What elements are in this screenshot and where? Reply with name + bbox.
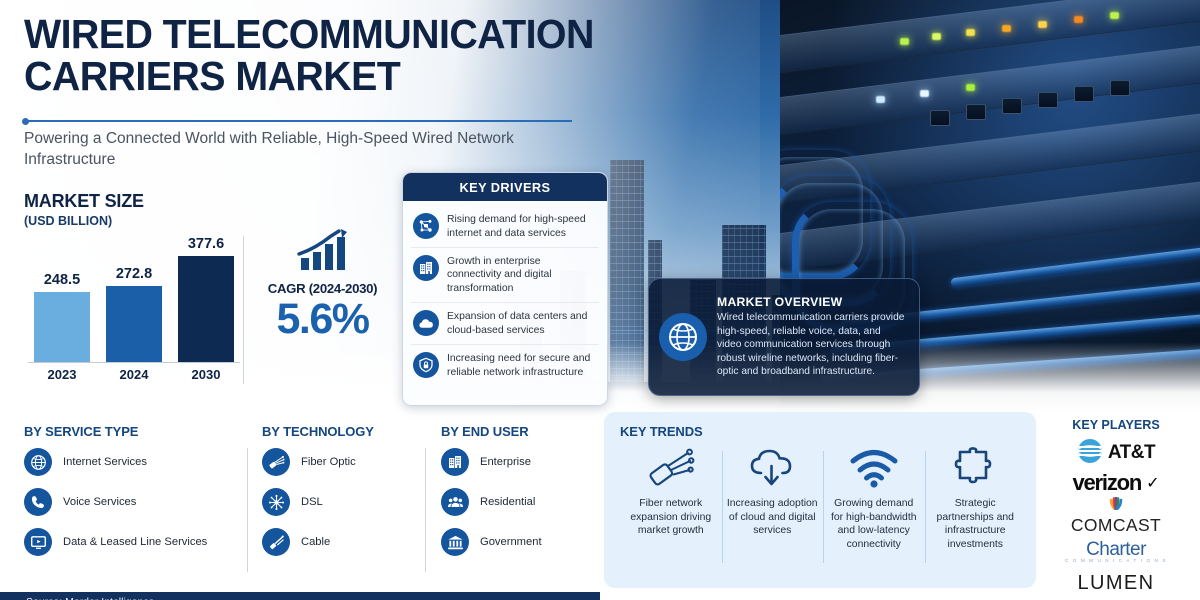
segment-divider-2 <box>425 448 426 572</box>
segment-heading: BY END USER <box>441 424 601 439</box>
key-player-name: verizon <box>1072 470 1141 496</box>
key-driver-item: Increasing need for secure and reliable … <box>411 345 599 386</box>
segment-item: Enterprise <box>441 448 601 476</box>
bar-value-label: 377.6 <box>188 236 224 252</box>
cagr-label: CAGR (2024-2030) <box>250 281 395 296</box>
market-size-heading: MARKET SIZE <box>24 191 144 212</box>
verizon-check-logo: ✓ <box>1146 473 1159 493</box>
wifi-icon <box>827 445 921 491</box>
market-overview-text: Wired telecommunication carriers provide… <box>717 311 907 379</box>
bar <box>34 292 90 362</box>
key-player-name: AT&T <box>1108 442 1155 464</box>
footer-bar: Source: Mordor Intelligence <box>0 592 600 600</box>
key-player-name: COMCAST <box>1071 515 1161 536</box>
chart-cagr-divider <box>243 236 244 384</box>
segment-heading: BY SERVICE TYPE <box>24 424 234 439</box>
key-player-verizon: verizon ✓ <box>1040 468 1192 498</box>
key-trends-heading: KEY TRENDS <box>620 424 1026 439</box>
cloud-icon <box>413 310 439 336</box>
segment-divider-1 <box>247 448 248 572</box>
page-title: WIRED TELECOMMUNICATION CARRIERS MARKET <box>24 14 600 98</box>
people-group-icon <box>441 488 469 516</box>
segment-item-label: Internet Services <box>63 456 147 468</box>
key-player-subtitle: C O M M U N I C A T I O N S <box>1065 558 1167 563</box>
bar-category-label: 2024 <box>120 367 149 382</box>
key-trend-text: Strategic partnerships and infrastructur… <box>929 497 1023 552</box>
key-driver-text: Expansion of data centers and cloud-base… <box>447 309 597 338</box>
network-nodes-icon <box>413 213 439 239</box>
segment-item-label: Fiber Optic <box>301 456 356 468</box>
segment-item-label: Enterprise <box>480 456 531 468</box>
key-driver-text: Increasing need for secure and reliable … <box>447 351 597 380</box>
key-trends-list: Fiber network expansion driving market g… <box>620 445 1026 577</box>
segment-item: Cable <box>262 528 422 556</box>
key-driver-text: Rising demand for high-speed internet an… <box>447 212 597 241</box>
bar-category-label: 2030 <box>192 367 221 382</box>
segment-item: Fiber Optic <box>262 448 422 476</box>
segment-item: Internet Services <box>24 448 234 476</box>
globe-icon <box>659 313 707 361</box>
chart-bars: 248.5272.8377.6 <box>28 232 240 362</box>
key-trend-text: Growing demand for high-bandwidth and lo… <box>827 497 921 552</box>
segment-item-label: DSL <box>301 496 323 508</box>
cloud-download-icon <box>726 445 820 491</box>
bar-value-label: 248.5 <box>44 272 80 288</box>
government-bank-icon <box>441 528 469 556</box>
key-player-comcast: COMCAST <box>1040 498 1192 534</box>
bar <box>178 256 234 362</box>
segment-item-label: Residential <box>480 496 535 508</box>
key-players-panel: KEY PLAYERS AT&T verizon ✓ <box>1040 418 1192 598</box>
monitor-play-icon <box>24 528 52 556</box>
office-building-icon <box>441 448 469 476</box>
phone-icon <box>24 488 52 516</box>
title-divider <box>24 120 572 122</box>
key-player-name: LUMEN <box>1077 572 1154 595</box>
key-trend-item: Growing demand for high-bandwidth and lo… <box>823 445 925 552</box>
key-driver-item: Rising demand for high-speed internet an… <box>411 206 599 248</box>
fiber-cable-icon <box>624 445 718 491</box>
att-globe-logo <box>1077 438 1103 469</box>
segment-item-label: Cable <box>301 536 330 548</box>
source-text: Source: Mordor Intelligence <box>26 596 154 600</box>
segment-item-label: Data & Leased Line Services <box>63 536 207 548</box>
dsl-node-icon <box>262 488 290 516</box>
shield-lock-icon <box>413 352 439 378</box>
market-overview-heading: MARKET OVERVIEW <box>717 295 907 309</box>
growth-bar-chart-arrow-icon <box>295 259 351 276</box>
puzzle-piece-icon <box>929 445 1023 491</box>
key-trend-text: Fiber network expansion driving market g… <box>624 497 718 538</box>
bar-category-label: 2023 <box>48 367 77 382</box>
key-trends-panel: KEY TRENDS Fiber network expansion drivi… <box>604 412 1036 588</box>
key-driver-item: Growth in enterprise connectivity and di… <box>411 248 599 303</box>
key-trend-text: Increasing adoption of cloud and digital… <box>726 497 820 538</box>
market-size-unit: (USD BILLION) <box>24 214 112 228</box>
key-player-charter: Charter C O M M U N I C A T I O N S <box>1040 534 1192 568</box>
segment-item: Residential <box>441 488 601 516</box>
segment-by-technology: BY TECHNOLOGYFiber OpticDSLCable <box>262 424 422 568</box>
segment-item: Government <box>441 528 601 556</box>
page-subtitle: Powering a Connected World with Reliable… <box>24 128 544 171</box>
segment-item-label: Government <box>480 536 542 548</box>
key-player-lumen: LUMEN <box>1040 568 1192 598</box>
key-drivers-heading: KEY DRIVERS <box>403 173 607 201</box>
office-building-icon <box>413 255 439 281</box>
comcast-peacock-logo <box>1103 497 1129 515</box>
key-drivers-list: Rising demand for high-speed internet an… <box>403 201 607 389</box>
key-trend-item: Increasing adoption of cloud and digital… <box>722 445 824 538</box>
bar-column: 377.6 <box>178 256 234 362</box>
key-driver-text: Growth in enterprise connectivity and di… <box>447 254 597 296</box>
globe-icon <box>24 448 52 476</box>
segment-heading: BY TECHNOLOGY <box>262 424 422 439</box>
segment-item: DSL <box>262 488 422 516</box>
market-size-bar-chart: 248.5272.8377.6 202320242030 <box>28 232 240 384</box>
key-drivers-card: KEY DRIVERS Rising demand for high-speed… <box>402 172 608 406</box>
key-trend-item: Strategic partnerships and infrastructur… <box>925 445 1027 552</box>
segment-item-label: Voice Services <box>63 496 136 508</box>
bar-column: 272.8 <box>106 286 162 362</box>
key-trend-item: Fiber network expansion driving market g… <box>620 445 722 538</box>
segment-by-end-user: BY END USEREnterpriseResidentialGovernme… <box>441 424 601 568</box>
cagr-block: CAGR (2024-2030) 5.6% <box>250 228 395 342</box>
fiber-optic-cable-icon <box>262 448 290 476</box>
infographic-root: WIRED TELECOMMUNICATION CARRIERS MARKET … <box>0 0 1200 600</box>
chart-axis <box>28 362 240 363</box>
key-player-att: AT&T <box>1040 438 1192 468</box>
segment-by-service-type: BY SERVICE TYPEInternet ServicesVoice Se… <box>24 424 234 568</box>
market-overview-card: MARKET OVERVIEW Wired telecommunication … <box>648 278 920 396</box>
bar-value-label: 272.8 <box>116 266 152 282</box>
key-driver-item: Expansion of data centers and cloud-base… <box>411 303 599 345</box>
segment-item: Voice Services <box>24 488 234 516</box>
cagr-value: 5.6% <box>250 297 395 342</box>
bar-column: 248.5 <box>34 292 90 362</box>
bar <box>106 286 162 362</box>
key-players-heading: KEY PLAYERS <box>1040 418 1192 432</box>
segment-item: Data & Leased Line Services <box>24 528 234 556</box>
coax-cable-icon <box>262 528 290 556</box>
